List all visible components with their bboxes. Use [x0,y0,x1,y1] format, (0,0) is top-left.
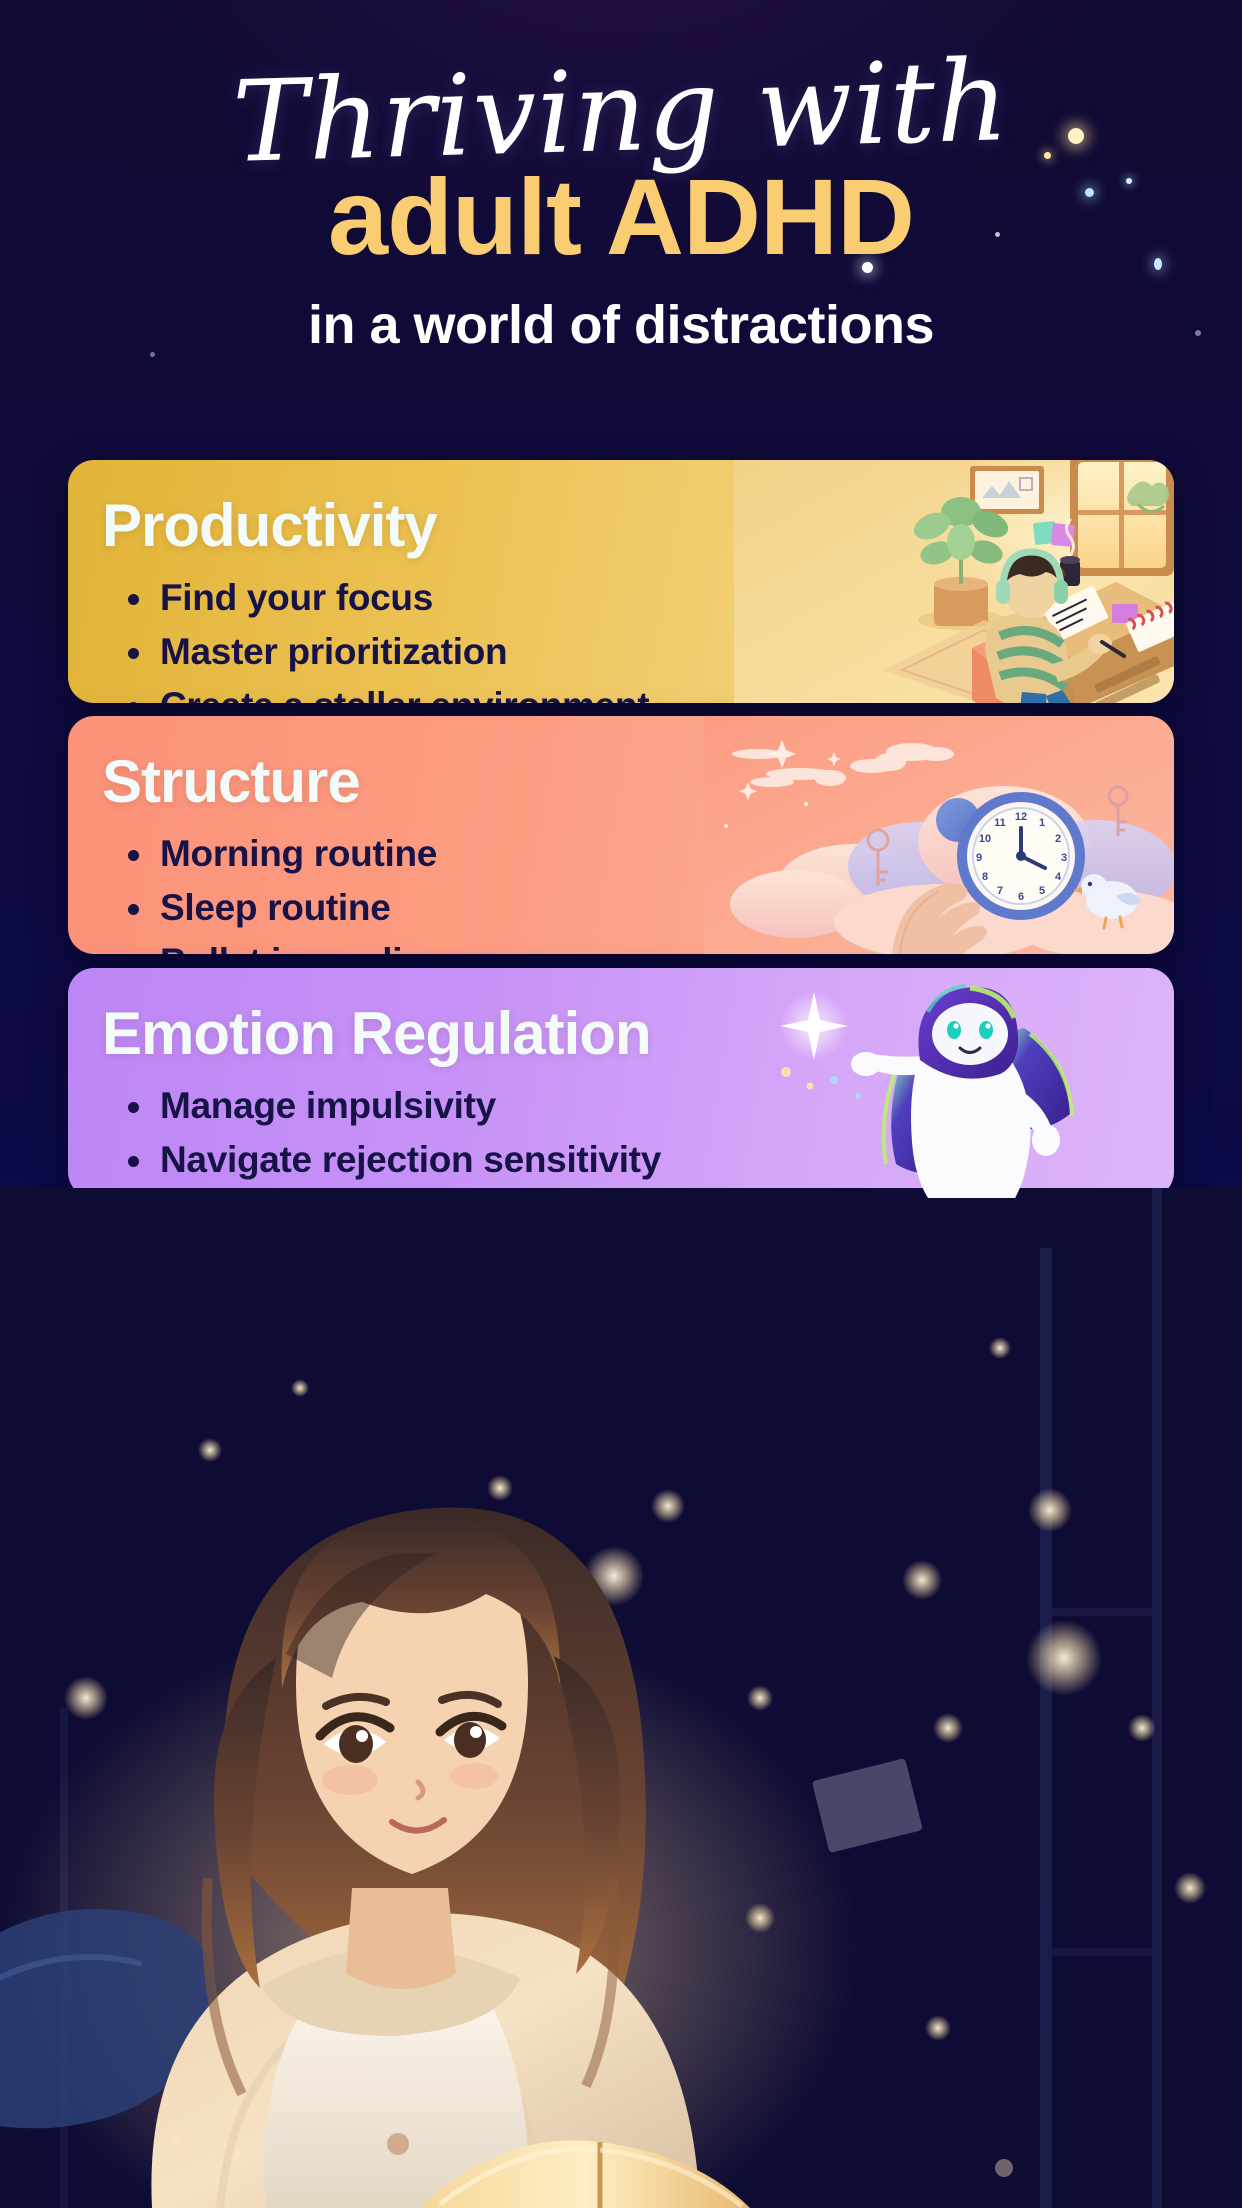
card-title-productivity: Productivity [102,494,1174,557]
structure-bullet-list: Morning routine Sleep routine Bullet jou… [102,835,1174,954]
structure-content: Structure Morning routine Sleep routine … [68,716,1174,954]
list-item: Manage impulsivity [102,1087,1174,1126]
emotion-bullet-list: Manage impulsivity Navigate rejection se… [102,1087,1174,1198]
productivity-content: Productivity Find your focus Master prio… [68,460,1174,703]
title-block: Thriving with adult ADHD in a world of d… [0,0,1242,356]
list-item: Morning routine [102,835,1174,874]
card-emotion-regulation[interactable]: Emotion Regulation Manage impulsivity Na… [68,968,1174,1198]
hero-scene [0,1188,1242,2208]
card-structure[interactable]: 121 23 45 67 89 1011 [68,716,1174,954]
list-item: Prevent burnout [102,1195,1174,1198]
list-item: Create a stellar environment [102,687,1174,703]
card-productivity[interactable]: Productivity Find your focus Master prio… [68,460,1174,703]
infographic-poster: Thriving with adult ADHD in a world of d… [0,0,1242,2208]
list-item: Master prioritization [102,633,1174,672]
list-item: Bullet journaling [102,943,1174,954]
hero-illustration [0,1188,1242,2208]
list-item: Navigate rejection sensitivity [102,1141,1174,1180]
list-item: Sleep routine [102,889,1174,928]
card-title-emotion-regulation: Emotion Regulation [102,1002,1174,1065]
productivity-bullet-list: Find your focus Master prioritization Cr… [102,579,1174,703]
list-item: Find your focus [102,579,1174,618]
emotion-content: Emotion Regulation Manage impulsivity Na… [68,968,1174,1198]
card-title-structure: Structure [102,750,1174,813]
page-subtitle: in a world of distractions [0,296,1242,355]
